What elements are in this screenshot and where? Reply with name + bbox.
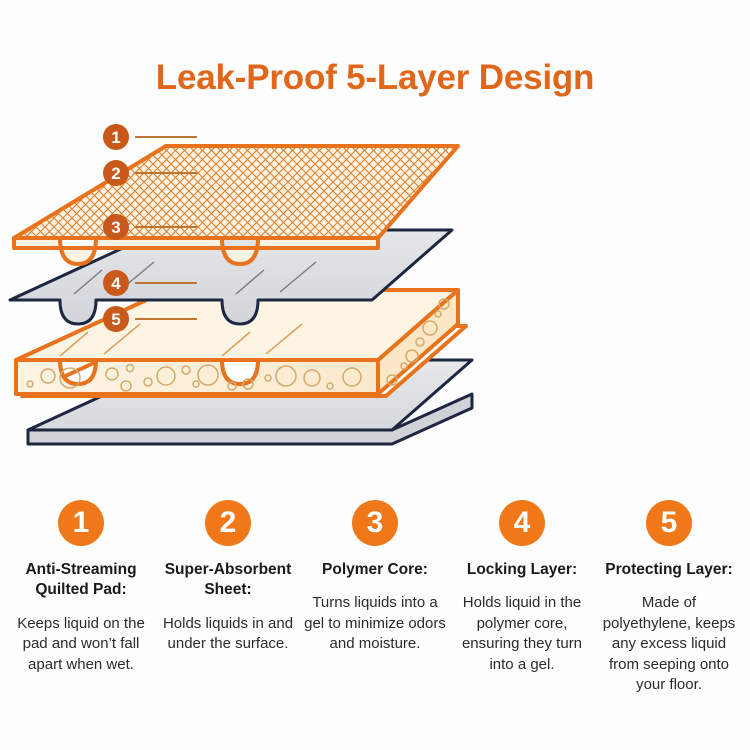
diagram-marker-5[interactable]: 5	[103, 306, 197, 332]
legend-item-5-title: Protecting Layer:	[605, 560, 732, 580]
diagram-marker-4-dot: 4	[103, 270, 129, 296]
diagram-marker-1[interactable]: 1	[103, 124, 197, 150]
diagram-marker-2[interactable]: 2	[103, 160, 197, 186]
diagram-marker-3-line	[135, 226, 197, 228]
legend-item-5: 5 Protecting Layer: Made of polyethylene…	[596, 500, 742, 695]
diagram-marker-5-line	[135, 318, 197, 320]
legend-item-4: 4 Locking Layer: Holds liquid in the pol…	[449, 500, 595, 695]
legend-item-1-description: Keeps liquid on the pad and won’t fall a…	[8, 614, 154, 675]
legend-item-2-number: 2	[205, 500, 251, 546]
legend-item-4-title: Locking Layer:	[467, 560, 577, 580]
legend-item-3-number: 3	[352, 500, 398, 546]
diagram-marker-3[interactable]: 3	[103, 214, 197, 240]
diagram-marker-3-dot: 3	[103, 214, 129, 240]
legend-item-1-title: Anti-Streaming Quilted Pad:	[8, 560, 154, 601]
legend-item-2-title: Super-Absorbent Sheet:	[155, 560, 301, 601]
layer-diagram: 1 2 3 4 5	[0, 128, 750, 478]
legend-item-5-description: Made of polyethylene, keeps any excess l…	[596, 593, 742, 695]
diagram-marker-2-line	[135, 172, 197, 174]
diagram-marker-1-dot: 1	[103, 124, 129, 150]
legend-item-4-number: 4	[499, 500, 545, 546]
diagram-marker-5-dot: 5	[103, 306, 129, 332]
legend-item-5-number: 5	[646, 500, 692, 546]
legend-item-3-description: Turns liquids into a gel to minimize odo…	[302, 593, 448, 654]
legend-item-2: 2 Super-Absorbent Sheet: Holds liquids i…	[155, 500, 301, 695]
page-title: Leak-Proof 5-Layer Design	[0, 58, 750, 98]
legend-item-3: 3 Polymer Core: Turns liquids into a gel…	[302, 500, 448, 695]
diagram-marker-4[interactable]: 4	[103, 270, 197, 296]
legend: 1 Anti-Streaming Quilted Pad: Keeps liqu…	[0, 500, 750, 695]
diagram-marker-1-line	[135, 136, 197, 138]
legend-item-1: 1 Anti-Streaming Quilted Pad: Keeps liqu…	[8, 500, 154, 695]
diagram-marker-2-dot: 2	[103, 160, 129, 186]
legend-item-2-description: Holds liquids in and under the surface.	[155, 614, 301, 655]
diagram-marker-4-line	[135, 282, 197, 284]
legend-item-1-number: 1	[58, 500, 104, 546]
legend-item-3-title: Polymer Core:	[322, 560, 428, 580]
legend-item-4-description: Holds liquid in the polymer core, ensuri…	[449, 593, 595, 675]
infographic-page: Leak-Proof 5-Layer Design	[0, 0, 750, 750]
